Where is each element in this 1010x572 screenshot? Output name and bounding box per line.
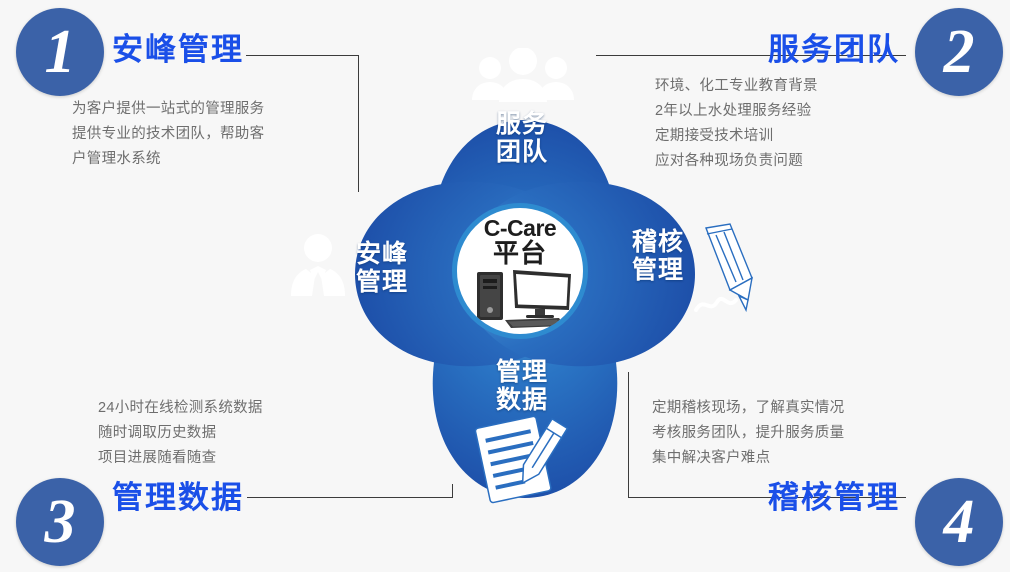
- center-hub: C-Care 平台: [452, 203, 588, 339]
- section-body-3-line: 随时调取历史数据: [98, 421, 263, 446]
- section-body-3-line: 24小时在线检测系统数据: [98, 396, 263, 421]
- number-badge-2-text: 2: [944, 21, 975, 83]
- number-badge-1: 1: [16, 8, 104, 96]
- section-body-1-line: 提供专业的技术团队，帮助客: [72, 122, 264, 147]
- number-badge-4-text: 4: [944, 491, 975, 553]
- section-body-3-line: 项目进展随看随查: [98, 446, 263, 471]
- center-hub-subtitle: 平台: [457, 240, 583, 267]
- section-body-1-line: 户管理水系统: [72, 147, 264, 172]
- number-badge-2: 2: [915, 8, 1003, 96]
- number-badge-4: 4: [915, 478, 1003, 566]
- number-badge-3: 3: [16, 478, 104, 566]
- section-heading-3: 管理数据: [112, 472, 244, 517]
- number-badge-1-text: 1: [45, 21, 76, 83]
- infographic-canvas: 1 2 3 4 安峰管理 服务团队 管理数据 稽核管理 为客户提供一站式的管理服…: [0, 0, 1010, 572]
- number-badge-3-text: 3: [45, 491, 76, 553]
- section-heading-1: 安峰管理: [112, 24, 244, 69]
- section-body-1: 为客户提供一站式的管理服务 提供专业的技术团队，帮助客 户管理水系统: [72, 97, 264, 172]
- section-body-1-line: 为客户提供一站式的管理服务: [72, 97, 264, 122]
- section-body-3: 24小时在线检测系统数据 随时调取历史数据 项目进展随看随查: [98, 396, 263, 471]
- desktop-computer-icon: [471, 266, 579, 330]
